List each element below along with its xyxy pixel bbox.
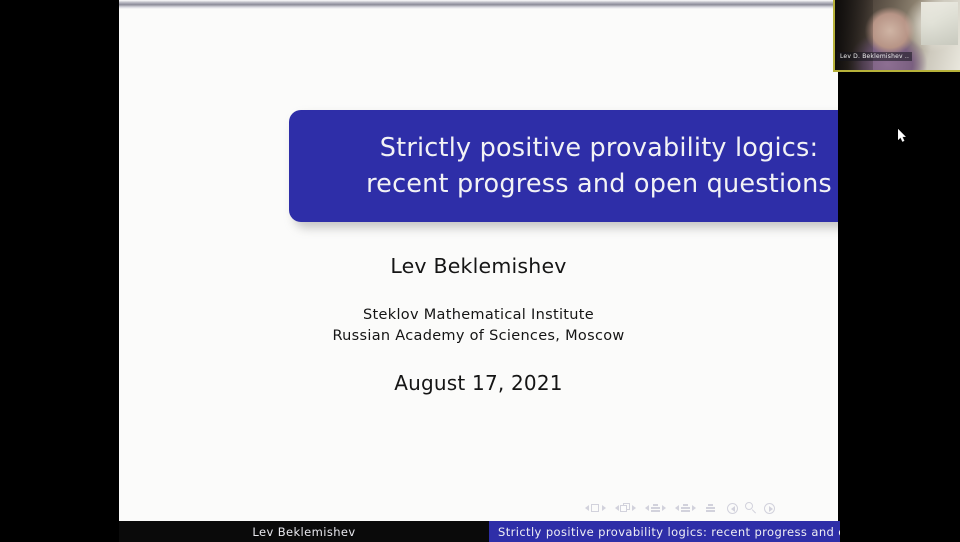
presentation-slide[interactable]: Strictly positive provability logics: re… bbox=[119, 0, 838, 521]
webcam-participant-label: Lev D. Beklemishev .. bbox=[837, 52, 912, 61]
section-navigation-group[interactable] bbox=[675, 503, 696, 513]
slide-title-line-1: Strictly positive provability logics: bbox=[380, 130, 819, 166]
subsection-previous-icon[interactable] bbox=[645, 505, 649, 511]
slide-author: Lev Beklemishev bbox=[119, 254, 838, 278]
slide-title-line-2: recent progress and open questions bbox=[366, 166, 832, 202]
slide-square-icon[interactable] bbox=[590, 503, 601, 513]
mouse-pointer-icon bbox=[898, 128, 907, 142]
webcam-thumbnail[interactable]: Lev D. Beklemishev .. bbox=[833, 0, 960, 72]
slide-affiliation: Steklov Mathematical Institute Russian A… bbox=[119, 305, 838, 347]
subsection-navigation-group[interactable] bbox=[645, 503, 666, 513]
subsection-bars-icon[interactable] bbox=[650, 503, 661, 513]
title-box: Strictly positive provability logics: re… bbox=[289, 110, 838, 222]
forward-arrow-icon[interactable] bbox=[764, 503, 775, 514]
frame-stack-icon[interactable] bbox=[620, 503, 631, 513]
slide-footer-bar: Lev Beklemishev Strictly positive provab… bbox=[0, 521, 960, 542]
frame-previous-icon[interactable] bbox=[615, 505, 619, 511]
screen-root: Strictly positive provability logics: re… bbox=[0, 0, 960, 542]
slide-date: August 17, 2021 bbox=[119, 371, 838, 395]
presentation-navigation-group[interactable] bbox=[705, 503, 716, 513]
affiliation-line-2: Russian Academy of Sciences, Moscow bbox=[119, 326, 838, 347]
title-block: Strictly positive provability logics: re… bbox=[289, 110, 838, 222]
slide-previous-icon[interactable] bbox=[585, 505, 589, 511]
section-bars-icon[interactable] bbox=[680, 503, 691, 513]
footer-title: Strictly positive provability logics: re… bbox=[489, 521, 840, 542]
beamer-navigation-bar[interactable] bbox=[585, 500, 825, 516]
footer-author: Lev Beklemishev bbox=[119, 521, 489, 542]
section-next-icon[interactable] bbox=[692, 505, 696, 511]
frame-next-icon[interactable] bbox=[632, 505, 636, 511]
section-previous-icon[interactable] bbox=[675, 505, 679, 511]
subsection-next-icon[interactable] bbox=[662, 505, 666, 511]
affiliation-line-1: Steklov Mathematical Institute bbox=[119, 305, 838, 326]
slide-next-icon[interactable] bbox=[602, 505, 606, 511]
back-arrow-icon[interactable] bbox=[727, 503, 738, 514]
presentation-bars-icon[interactable] bbox=[705, 503, 716, 513]
slide-top-edge-strip bbox=[119, 0, 838, 9]
webcam-background-window bbox=[921, 2, 959, 45]
frame-navigation-group[interactable] bbox=[615, 503, 636, 513]
magnifier-icon[interactable] bbox=[745, 502, 757, 514]
slide-navigation-group[interactable] bbox=[585, 503, 606, 513]
